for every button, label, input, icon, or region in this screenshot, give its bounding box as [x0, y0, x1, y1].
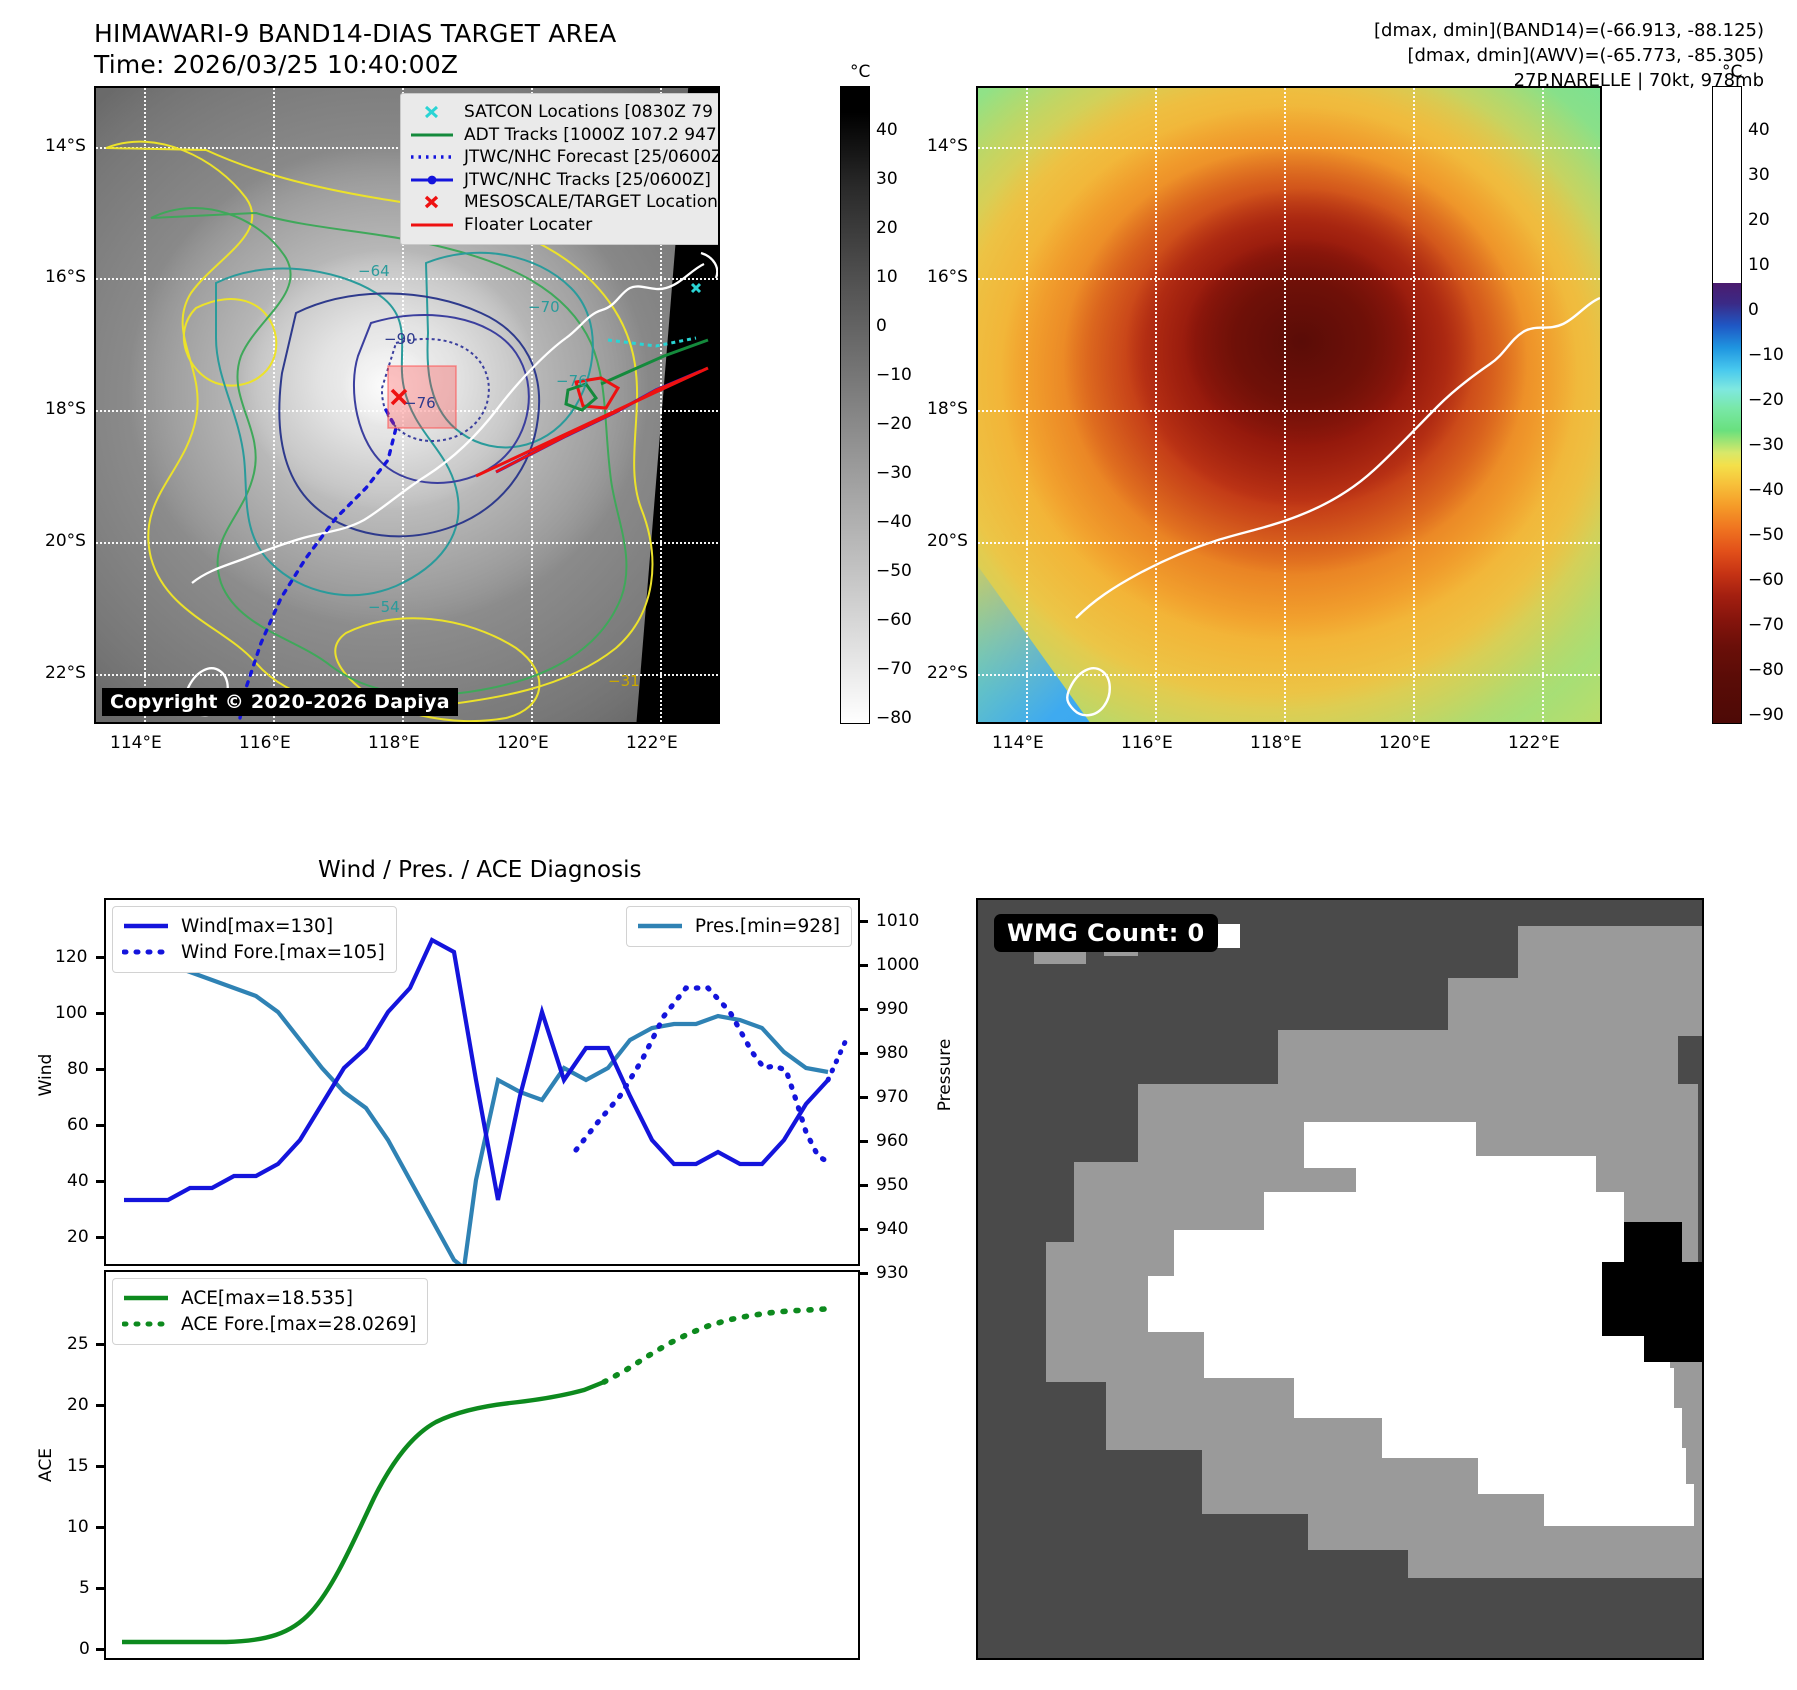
floater-line-icon — [409, 219, 455, 231]
ace-tick-mark — [96, 1648, 104, 1651]
pressure-tick-mark — [860, 1052, 868, 1055]
legend-item-wind-forecast[interactable]: Wind Fore.[max=105] — [121, 939, 385, 965]
diagnosis-title: Wind / Pres. / ACE Diagnosis — [318, 857, 641, 883]
wind-pressure-chart[interactable]: Wind[max=130] Wind Fore.[max=105] Pres.[… — [104, 898, 860, 1266]
contour-label-76: −76 — [404, 394, 436, 412]
pressure-tick-mark — [860, 1096, 868, 1099]
enh-lat-label-18s: 18°S — [927, 399, 968, 419]
pressure-tick-980: 980 — [876, 1043, 908, 1063]
dmax-dmin-band14: [dmax, dmin](BAND14)=(-66.913, -88.125) — [1374, 18, 1764, 43]
legend-label: ADT Tracks [1000Z 107.2 947.9] — [464, 124, 720, 147]
ace-tick-15: 15 — [67, 1456, 89, 1476]
legend-item-wind[interactable]: Wind[max=130] — [121, 913, 385, 939]
enh-lat-label-20s: 20°S — [927, 531, 968, 551]
legend-item-floater[interactable]: Floater Locater — [409, 214, 720, 237]
pressure-chart-legend[interactable]: Pres.[min=928] — [626, 906, 852, 947]
enh-lon-label-122e: 122°E — [1508, 733, 1560, 753]
legend-item-satcon[interactable]: SATCON Locations [0830Z 79 962] — [409, 101, 720, 124]
pressure-tick-990: 990 — [876, 999, 908, 1019]
ace-chart-legend[interactable]: ACE[max=18.535] ACE Fore.[max=28.0269] — [112, 1278, 428, 1345]
ir-lat-label-22s: 22°S — [45, 663, 86, 683]
pressure-tick-mark — [860, 1008, 868, 1011]
ace-line-icon — [121, 1292, 171, 1304]
wind-tick-mark — [96, 1124, 104, 1127]
contour-label-76b: −76 — [556, 372, 588, 390]
wmg-black-region — [1602, 1262, 1702, 1336]
wind-tick-100: 100 — [55, 1003, 87, 1023]
wmg-panel[interactable]: WMG Count: 0 — [976, 898, 1704, 1660]
pressure-tick-1000: 1000 — [876, 955, 919, 975]
wind-tick-mark — [96, 1068, 104, 1071]
legend-label: ACE Fore.[max=28.0269] — [181, 1312, 416, 1337]
wind-chart-legend[interactable]: Wind[max=130] Wind Fore.[max=105] — [112, 906, 397, 973]
contour-label-64: −64 — [358, 262, 390, 280]
pressure-tick-950: 950 — [876, 1175, 908, 1195]
pressure-tick-mark — [860, 1228, 868, 1231]
ir-lat-label-14s: 14°S — [45, 136, 86, 156]
enhanced-ir-panel[interactable] — [976, 86, 1602, 724]
legend-label: JTWC/NHC Forecast [25/0600Z] — [464, 146, 720, 169]
wmg-white-region — [1544, 1484, 1694, 1526]
ace-tick-10: 10 — [67, 1517, 89, 1537]
ace-tick-20: 20 — [67, 1395, 89, 1415]
legend-label: Floater Locater — [464, 214, 592, 237]
ace-tick-mark — [96, 1343, 104, 1346]
wmg-black-region — [1644, 1330, 1702, 1362]
satcon-x-icon — [409, 104, 455, 120]
wind-axis-label: Wind — [36, 1035, 56, 1115]
title-line-1: HIMAWARI-9 BAND14-DIAS TARGET AREA — [94, 18, 617, 49]
ace-forecast-series — [604, 1309, 826, 1382]
wmg-count-badge: WMG Count: 0 — [994, 914, 1218, 952]
ir-lat-label-16s: 16°S — [45, 267, 86, 287]
enhanced-colorbar-unit: °C — [1722, 62, 1742, 82]
header-info: [dmax, dmin](BAND14)=(-66.913, -88.125) … — [1374, 18, 1764, 93]
wmg-black-region — [1624, 1222, 1682, 1262]
contour-label-90: −90 — [384, 330, 416, 348]
adt-line-icon — [409, 129, 455, 141]
ace-tick-25: 25 — [67, 1334, 89, 1354]
ir-lon-label-116e: 116°E — [239, 733, 291, 753]
enhanced-coastline — [978, 88, 1602, 724]
ace-tick-5: 5 — [79, 1578, 90, 1598]
enh-lon-label-116e: 116°E — [1121, 733, 1173, 753]
dmax-dmin-awv: [dmax, dmin](AWV)=(-65.773, -85.305) — [1374, 43, 1764, 68]
ir-grayscale-panel[interactable]: −90 −76 −64 −70 −76 −54 −31 SATCON Locat… — [94, 86, 720, 724]
wind-tick-20: 20 — [67, 1227, 89, 1247]
wind-tick-40: 40 — [67, 1171, 89, 1191]
legend-item-mesoscale[interactable]: MESOSCALE/TARGET Location — [409, 191, 720, 214]
wind-line-icon — [121, 920, 171, 932]
legend-item-ace-forecast[interactable]: ACE Fore.[max=28.0269] — [121, 1311, 416, 1337]
ir-colorbar-unit: °C — [850, 62, 870, 82]
enh-lat-label-16s: 16°S — [927, 267, 968, 287]
ace-tick-mark — [96, 1587, 104, 1590]
wind-tick-mark — [96, 1236, 104, 1239]
page-title: HIMAWARI-9 BAND14-DIAS TARGET AREA Time:… — [94, 18, 617, 80]
enh-lon-label-120e: 120°E — [1379, 733, 1431, 753]
ir-map-legend[interactable]: SATCON Locations [0830Z 79 962] ADT Trac… — [400, 93, 720, 245]
contour-label-54: −54 — [368, 598, 400, 616]
ir-lat-label-20s: 20°S — [45, 531, 86, 551]
pressure-tick-mark — [860, 920, 868, 923]
legend-item-adt[interactable]: ADT Tracks [1000Z 107.2 947.9] — [409, 124, 720, 147]
jtwc-track-marker-icon — [409, 174, 455, 186]
pressure-tick-960: 960 — [876, 1131, 908, 1151]
pressure-tick-970: 970 — [876, 1087, 908, 1107]
title-line-2: Time: 2026/03/25 10:40:00Z — [94, 49, 617, 80]
wind-tick-mark — [96, 956, 104, 959]
legend-label: ACE[max=18.535] — [181, 1286, 353, 1311]
copyright-notice: Copyright © 2020-2026 Dapiya — [102, 688, 458, 716]
pressure-tick-mark — [860, 1140, 868, 1143]
legend-item-pressure[interactable]: Pres.[min=928] — [635, 913, 840, 939]
legend-label: SATCON Locations [0830Z 79 962] — [464, 101, 720, 124]
legend-label: MESOSCALE/TARGET Location — [464, 191, 718, 214]
pressure-axis-label: Pressure — [935, 1035, 955, 1115]
ace-axis-label: ACE — [36, 1425, 56, 1505]
mesoscale-x-icon — [409, 194, 455, 210]
jtwc-forecast-dotted-icon — [409, 151, 455, 163]
wind-tick-80: 80 — [67, 1059, 89, 1079]
ace-series — [122, 1382, 604, 1642]
enh-lon-label-118e: 118°E — [1250, 733, 1302, 753]
legend-item-jtwc-tracks[interactable]: JTWC/NHC Tracks [25/0600Z] — [409, 169, 720, 192]
enh-lon-label-114e: 114°E — [992, 733, 1044, 753]
enh-lat-label-22s: 22°S — [927, 663, 968, 683]
pressure-tick-mark — [860, 1272, 868, 1275]
ace-tick-mark — [96, 1465, 104, 1468]
ace-chart[interactable]: ACE[max=18.535] ACE Fore.[max=28.0269] — [104, 1270, 860, 1660]
wind-tick-60: 60 — [67, 1115, 89, 1135]
enh-lat-label-14s: 14°S — [927, 136, 968, 156]
ir-lon-label-118e: 118°E — [368, 733, 420, 753]
pressure-tick-930: 930 — [876, 1263, 908, 1283]
enhanced-colorbar-ticks: 40 30 20 10 0 −10 −20 −30 −40 −50 −60 −7… — [1748, 86, 1797, 724]
legend-label: JTWC/NHC Tracks [25/0600Z] — [464, 169, 711, 192]
legend-label: Pres.[min=928] — [695, 914, 840, 939]
wind-tick-mark — [96, 1012, 104, 1015]
contour-label-31: −31 — [608, 672, 640, 690]
pressure-tick-1010: 1010 — [876, 911, 919, 931]
pressure-tick-mark — [860, 1184, 868, 1187]
ir-lon-label-120e: 120°E — [497, 733, 549, 753]
ir-lon-label-122e: 122°E — [626, 733, 678, 753]
enhanced-colorbar — [1712, 86, 1742, 724]
ace-tick-0: 0 — [79, 1639, 90, 1659]
wmg-dark-region — [978, 1590, 1704, 1660]
legend-label: Wind[max=130] — [181, 914, 333, 939]
ir-lon-label-114e: 114°E — [110, 733, 162, 753]
wind-tick-120: 120 — [55, 947, 87, 967]
legend-label: Wind Fore.[max=105] — [181, 940, 385, 965]
ace-forecast-dotted-icon — [121, 1318, 171, 1330]
legend-item-ace[interactable]: ACE[max=18.535] — [121, 1285, 416, 1311]
pressure-line-icon — [635, 920, 685, 932]
contour-label-70b: −70 — [528, 298, 560, 316]
legend-item-jtwc-forecast[interactable]: JTWC/NHC Forecast [25/0600Z] — [409, 146, 720, 169]
pressure-tick-mark — [860, 964, 868, 967]
ace-tick-mark — [96, 1526, 104, 1529]
wind-tick-mark — [96, 1180, 104, 1183]
wmg-gray-region — [1408, 1518, 1704, 1578]
ace-tick-mark — [96, 1404, 104, 1407]
ir-lat-label-18s: 18°S — [45, 399, 86, 419]
pressure-tick-940: 940 — [876, 1219, 908, 1239]
wind-forecast-dotted-icon — [121, 946, 171, 958]
ir-colorbar — [840, 86, 870, 724]
